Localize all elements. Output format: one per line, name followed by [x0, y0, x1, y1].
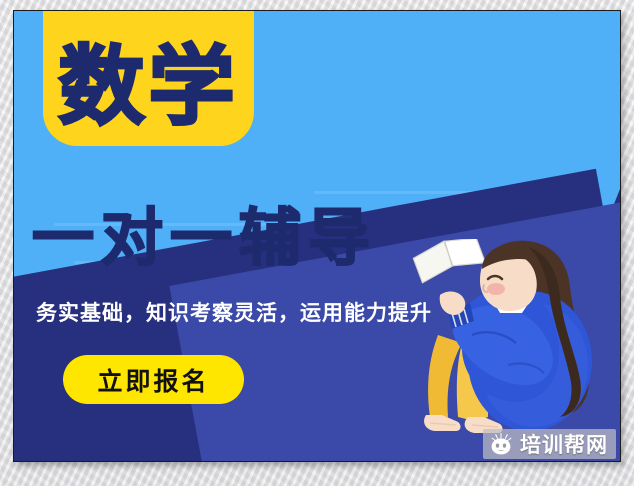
poster-headline: 一对一辅导 — [32, 207, 377, 269]
enroll-now-button[interactable]: 立即报名 — [63, 355, 244, 404]
watermark: 培训帮网 — [483, 429, 616, 459]
screenshot-frame: 数学 — [0, 0, 634, 486]
subject-badge-label: 数学 — [59, 44, 239, 130]
course-promo-poster: 数学 — [13, 10, 621, 462]
watermark-text: 培训帮网 — [520, 429, 608, 459]
enroll-now-button-label: 立即报名 — [97, 362, 209, 398]
subject-badge: 数学 — [43, 10, 254, 146]
sun-face-icon — [489, 432, 513, 456]
poster-subheadline: 务实基础，知识考察灵活，运用能力提升 — [36, 303, 432, 324]
